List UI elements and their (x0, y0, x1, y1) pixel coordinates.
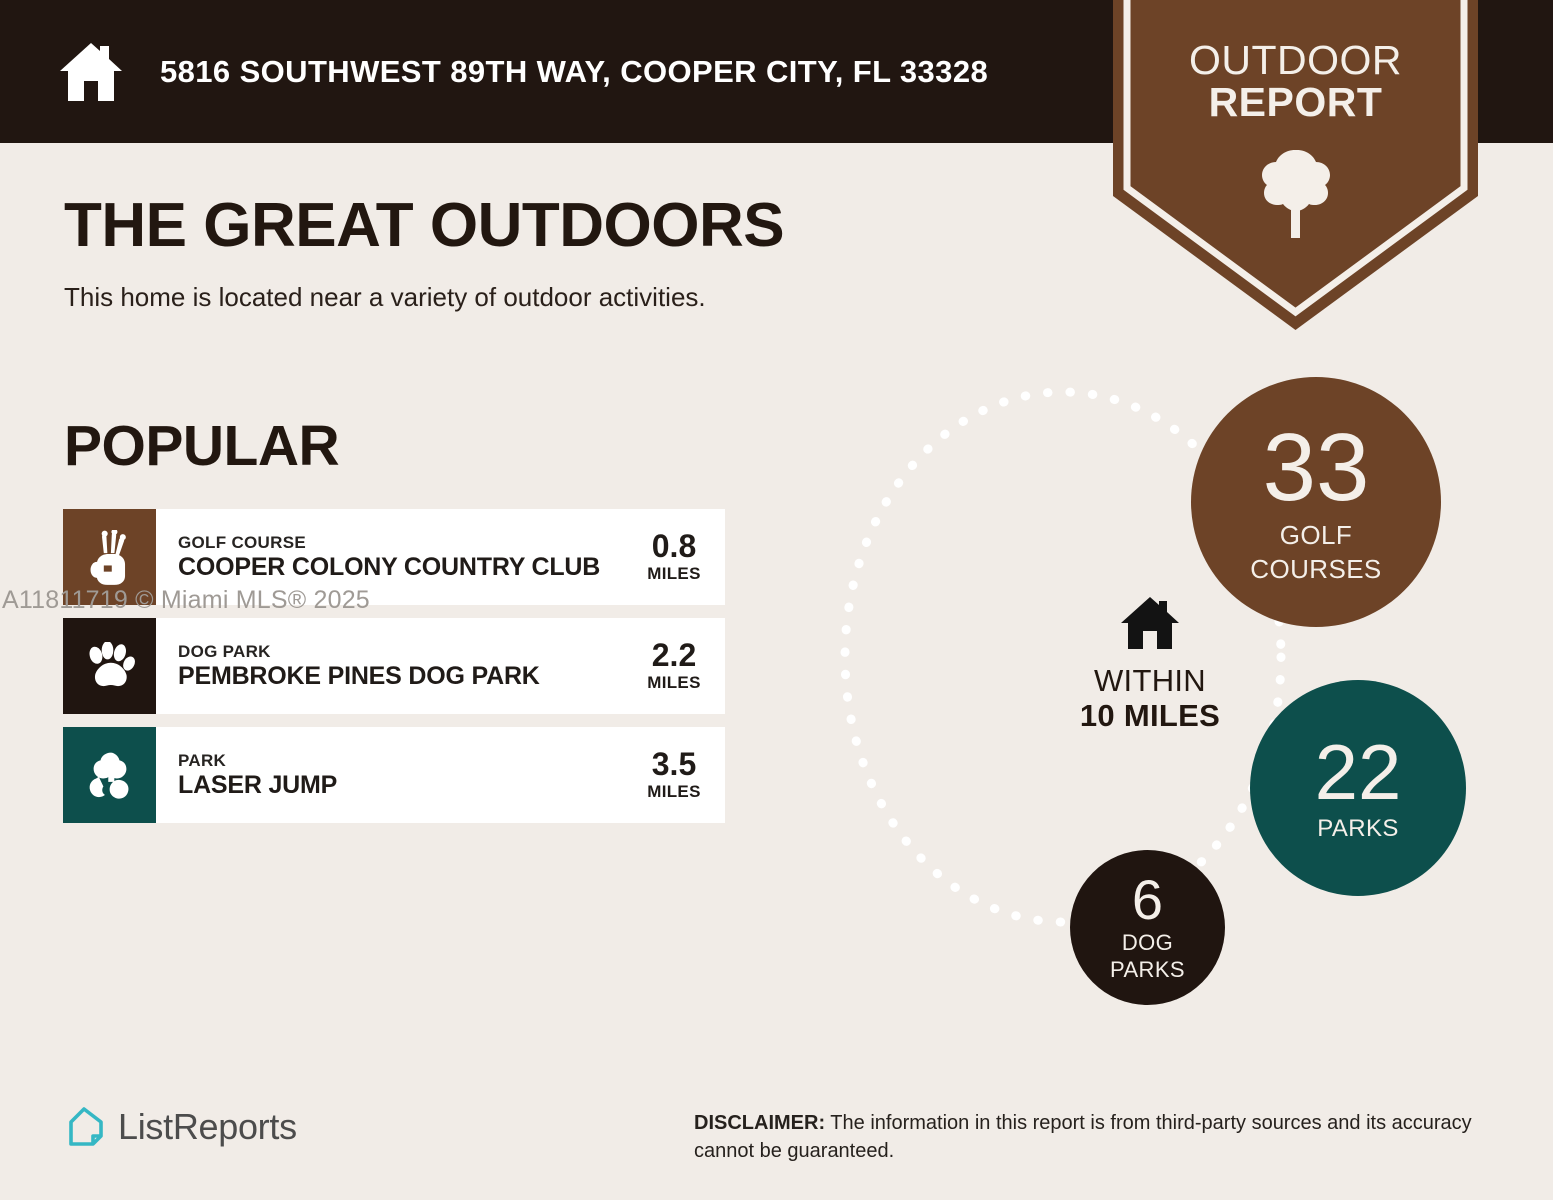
poi-distance: 0.8 MILES (637, 530, 711, 584)
stat-golf-courses: 33 GOLF COURSES (1191, 377, 1441, 627)
disclaimer: DISCLAIMER: The information in this repo… (694, 1110, 1494, 1165)
poi-icon-box (63, 509, 156, 605)
stat-value: 22 (1315, 734, 1402, 810)
poi-category: PARK (178, 750, 337, 771)
poi-distance: 3.5 MILES (637, 748, 711, 802)
page-subtitle: This home is located near a variety of o… (64, 282, 706, 313)
poi-distance-unit: MILES (637, 673, 711, 693)
stat-label-line1: DOG (1122, 931, 1173, 955)
listreports-house-icon (62, 1105, 118, 1149)
popular-list: GOLF COURSE COOPER COLONY COUNTRY CLUB 0… (63, 509, 725, 836)
stat-dog-parks: 6 DOG PARKS (1070, 850, 1225, 1005)
house-icon (58, 41, 124, 103)
list-item[interactable]: GOLF COURSE COOPER COLONY COUNTRY CLUB 0… (63, 509, 725, 605)
house-icon (1025, 595, 1275, 656)
poi-texts: PARK LASER JUMP (178, 750, 337, 800)
poi-icon-box (63, 618, 156, 714)
radius-center-label: WITHIN 10 MILES (1025, 595, 1275, 733)
radius-graphic: WITHIN 10 MILES 33 GOLF COURSES 22 PARKS… (800, 350, 1500, 1050)
poi-name: PEMBROKE PINES DOG PARK (178, 662, 540, 691)
property-address: 5816 SOUTHWEST 89TH WAY, COOPER CITY, FL… (160, 54, 988, 90)
poi-category: DOG PARK (178, 641, 540, 662)
poi-icon-box (63, 727, 156, 823)
page-title: THE GREAT OUTDOORS (64, 190, 784, 261)
stat-value: 6 (1132, 873, 1163, 928)
poi-body: GOLF COURSE COOPER COLONY COUNTRY CLUB 0… (156, 509, 725, 605)
stat-label-line1: PARKS (1317, 816, 1399, 842)
stat-value: 33 (1263, 421, 1370, 515)
poi-body: DOG PARK PEMBROKE PINES DOG PARK 2.2 MIL… (156, 618, 725, 714)
stat-label-line2: PARKS (1110, 958, 1185, 982)
park-tree-icon (85, 750, 135, 800)
listreports-wordmark: ListReports (118, 1106, 297, 1148)
poi-texts: GOLF COURSE COOPER COLONY COUNTRY CLUB (178, 532, 600, 582)
poi-texts: DOG PARK PEMBROKE PINES DOG PARK (178, 641, 540, 691)
section-title-popular: POPULAR (64, 413, 339, 479)
radius-line-1: WITHIN (1025, 664, 1275, 699)
outdoor-report-page: 5816 SOUTHWEST 89TH WAY, COOPER CITY, FL… (0, 0, 1553, 1200)
poi-distance-value: 3.5 (637, 748, 711, 780)
golf-bag-icon (87, 530, 133, 585)
poi-distance-unit: MILES (637, 564, 711, 584)
poi-name: COOPER COLONY COUNTRY CLUB (178, 553, 600, 582)
poi-distance-value: 0.8 (637, 530, 711, 562)
poi-distance-value: 2.2 (637, 639, 711, 671)
radius-line-2: 10 MILES (1025, 699, 1275, 734)
list-item[interactable]: PARK LASER JUMP 3.5 MILES (63, 727, 725, 823)
poi-category: GOLF COURSE (178, 532, 600, 553)
disclaimer-label: DISCLAIMER: (694, 1112, 825, 1134)
paw-print-icon (85, 642, 135, 690)
list-item[interactable]: DOG PARK PEMBROKE PINES DOG PARK 2.2 MIL… (63, 618, 725, 714)
stat-label-line2: COURSES (1250, 555, 1381, 583)
stat-label-line1: GOLF (1280, 521, 1352, 549)
listreports-logo: ListReports (62, 1105, 297, 1149)
outdoor-report-badge: OUTDOOR REPORT (1113, 0, 1478, 330)
poi-distance-unit: MILES (637, 782, 711, 802)
poi-body: PARK LASER JUMP 3.5 MILES (156, 727, 725, 823)
poi-name: LASER JUMP (178, 771, 337, 800)
poi-distance: 2.2 MILES (637, 639, 711, 693)
stat-parks: 22 PARKS (1250, 680, 1466, 896)
